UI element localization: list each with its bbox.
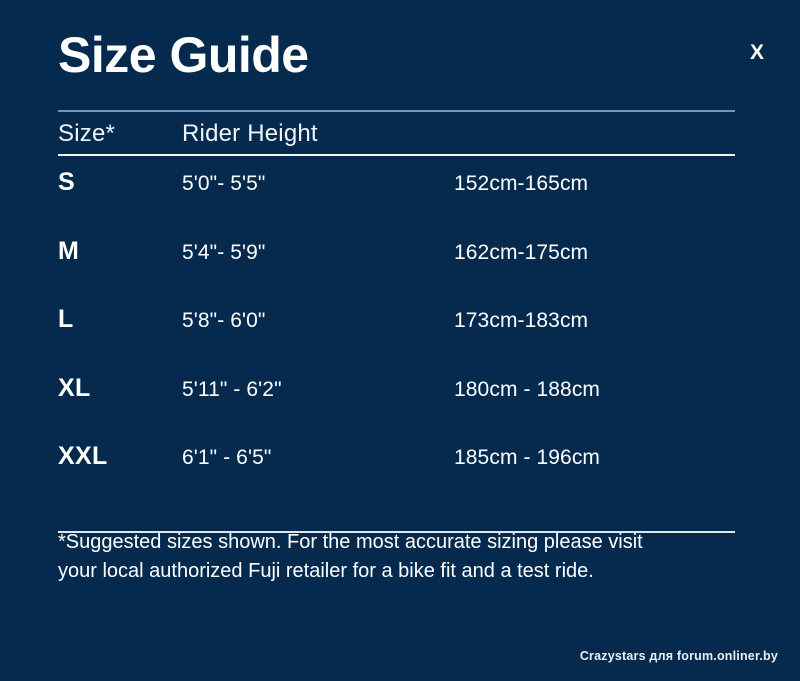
cell-metric: 173cm-183cm — [454, 309, 735, 333]
cell-metric: 152cm-165cm — [454, 172, 735, 196]
table-row: XXL 6'1" - 6'5" 185cm - 196cm — [58, 442, 735, 511]
page-title: Size Guide — [58, 28, 309, 83]
cell-size: M — [58, 237, 182, 266]
cell-imperial: 5'0"- 5'5" — [182, 172, 454, 196]
cell-imperial: 5'8"- 6'0" — [182, 309, 454, 333]
column-header-size: Size* — [58, 120, 182, 148]
cell-size: S — [58, 168, 182, 197]
cell-imperial: 5'4"- 5'9" — [182, 241, 454, 265]
cell-size: XL — [58, 374, 182, 403]
column-header-rider-height: Rider Height — [182, 120, 454, 148]
footnote: *Suggested sizes shown. For the most acc… — [58, 528, 718, 586]
size-guide-modal: Size Guide X Size* Rider Height S 5'0"- … — [0, 0, 800, 681]
footnote-line-1: *Suggested sizes shown. For the most acc… — [58, 528, 718, 557]
cell-size: XXL — [58, 442, 182, 471]
table-header-row: Size* Rider Height — [58, 112, 735, 154]
table-row: S 5'0"- 5'5" 152cm-165cm — [58, 168, 735, 237]
watermark: Crazystars для forum.onliner.by — [580, 649, 778, 663]
size-table: Size* Rider Height S 5'0"- 5'5" 152cm-16… — [58, 110, 735, 533]
cell-metric: 185cm - 196cm — [454, 446, 735, 470]
table-row: L 5'8"- 6'0" 173cm-183cm — [58, 305, 735, 374]
cell-size: L — [58, 305, 182, 334]
cell-metric: 180cm - 188cm — [454, 378, 735, 402]
table-row: XL 5'11" - 6'2" 180cm - 188cm — [58, 374, 735, 443]
close-icon[interactable]: X — [744, 38, 770, 67]
cell-metric: 162cm-175cm — [454, 241, 735, 265]
table-row: M 5'4"- 5'9" 162cm-175cm — [58, 237, 735, 306]
footnote-line-2: your local authorized Fuji retailer for … — [58, 557, 718, 586]
cell-imperial: 6'1" - 6'5" — [182, 446, 454, 470]
cell-imperial: 5'11" - 6'2" — [182, 378, 454, 402]
table-body: S 5'0"- 5'5" 152cm-165cm M 5'4"- 5'9" 16… — [58, 156, 735, 531]
